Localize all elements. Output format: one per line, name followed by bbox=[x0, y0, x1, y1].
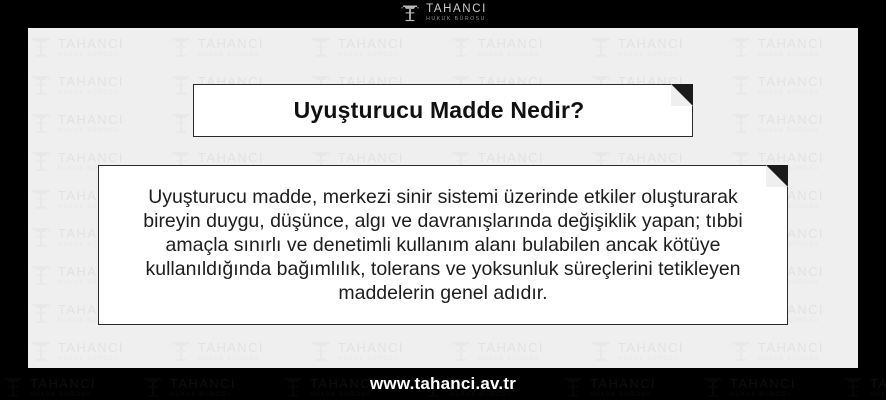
watermark-brand-name: TAHANCI bbox=[58, 37, 124, 50]
brand-subtitle: HUKUK BÜROSU bbox=[426, 17, 486, 22]
watermark-brand-subtitle: HUKUK BÜROSU bbox=[338, 356, 404, 362]
watermark-tile: TAHANCIHUKUK BÜROSU bbox=[308, 338, 448, 364]
watermark-brand-name: TAHANCI bbox=[870, 377, 886, 390]
pillar-column-icon bbox=[168, 338, 194, 364]
watermark-text: TAHANCIHUKUK BÜROSU bbox=[618, 341, 684, 362]
pillar-column-icon bbox=[168, 72, 194, 98]
watermark-text: TAHANCIHUKUK BÜROSU bbox=[870, 377, 886, 398]
watermark-text: TAHANCIHUKUK BÜROSU bbox=[58, 341, 124, 362]
watermark-text: TAHANCIHUKUK BÜROSU bbox=[730, 377, 796, 398]
watermark-brand-subtitle: HUKUK BÜROSU bbox=[870, 392, 886, 398]
watermark-brand-subtitle: HUKUK BÜROSU bbox=[478, 356, 544, 362]
pillar-column-icon bbox=[588, 338, 614, 364]
poster-canvas: TAHANCI HUKUK BÜROSU TAHANCIHUKUK BÜROSU… bbox=[0, 0, 886, 400]
watermark-brand-name: TAHANCI bbox=[758, 151, 824, 164]
watermark-brand-name: TAHANCI bbox=[758, 341, 824, 354]
pillar-column-icon bbox=[700, 374, 726, 400]
watermark-brand-name: TAHANCI bbox=[198, 37, 264, 50]
watermark-brand-name: TAHANCI bbox=[758, 37, 824, 50]
watermark-text: TAHANCIHUKUK BÜROSU bbox=[198, 37, 264, 58]
watermark-brand-subtitle: HUKUK BÜROSU bbox=[758, 356, 824, 362]
watermark-tile: TAHANCIHUKUK BÜROSU bbox=[140, 374, 280, 400]
pillar-column-icon bbox=[280, 374, 306, 400]
watermark-text: TAHANCIHUKUK BÜROSU bbox=[478, 341, 544, 362]
watermark-tile: TAHANCIHUKUK BÜROSU bbox=[700, 374, 840, 400]
pillar-column-icon bbox=[728, 110, 754, 136]
pillar-column-icon bbox=[728, 72, 754, 98]
watermark-brand-name: TAHANCI bbox=[338, 151, 404, 164]
watermark-brand-subtitle: HUKUK BÜROSU bbox=[758, 90, 824, 96]
watermark-brand-name: TAHANCI bbox=[338, 341, 404, 354]
watermark-brand-subtitle: HUKUK BÜROSU bbox=[30, 392, 96, 398]
content-panel: TAHANCIHUKUK BÜROSU TAHANCIHUKUK BÜROSU … bbox=[28, 28, 858, 368]
watermark-brand-subtitle: HUKUK BÜROSU bbox=[478, 52, 544, 58]
pillar-column-icon bbox=[28, 224, 54, 250]
pillar-column-icon bbox=[28, 338, 54, 364]
watermark-brand-name: TAHANCI bbox=[198, 151, 264, 164]
watermark-tile: TAHANCIHUKUK BÜROSU bbox=[588, 34, 728, 60]
watermark-text: TAHANCIHUKUK BÜROSU bbox=[310, 377, 376, 398]
watermark-text: TAHANCIHUKUK BÜROSU bbox=[758, 75, 824, 96]
watermark-text: TAHANCIHUKUK BÜROSU bbox=[170, 377, 236, 398]
pillar-column-icon bbox=[448, 34, 474, 60]
watermark-tile: TAHANCIHUKUK BÜROSU bbox=[0, 374, 140, 400]
pillar-column-icon bbox=[28, 72, 54, 98]
pillar-column-icon bbox=[140, 374, 166, 400]
watermark-tile: TAHANCIHUKUK BÜROSU bbox=[728, 110, 858, 136]
watermark-brand-name: TAHANCI bbox=[58, 113, 124, 126]
pillar-column-icon bbox=[28, 110, 54, 136]
pillar-column-icon bbox=[399, 2, 421, 24]
watermark-tile: TAHANCIHUKUK BÜROSU bbox=[728, 338, 858, 364]
pillar-column-icon bbox=[28, 34, 54, 60]
pillar-column-icon bbox=[728, 34, 754, 60]
folded-corner-icon bbox=[671, 84, 693, 106]
watermark-brand-name: TAHANCI bbox=[590, 377, 656, 390]
body-paragraph: Uyuşturucu madde, merkezi sinir sistemi … bbox=[119, 185, 767, 306]
pillar-column-icon bbox=[308, 34, 334, 60]
watermark-tile: TAHANCIHUKUK BÜROSU bbox=[308, 34, 448, 60]
watermark-text: TAHANCIHUKUK BÜROSU bbox=[58, 113, 124, 134]
watermark-text: TAHANCIHUKUK BÜROSU bbox=[758, 37, 824, 58]
watermark-text: TAHANCIHUKUK BÜROSU bbox=[758, 341, 824, 362]
watermark-tile: TAHANCIHUKUK BÜROSU bbox=[588, 338, 728, 364]
watermark-tile: TAHANCIHUKUK BÜROSU bbox=[728, 72, 858, 98]
watermark-brand-name: TAHANCI bbox=[310, 377, 376, 390]
watermark-brand-subtitle: HUKUK BÜROSU bbox=[758, 128, 824, 134]
watermark-tile: TAHANCIHUKUK BÜROSU bbox=[28, 338, 168, 364]
footer-bar: TAHANCIHUKUK BÜROSU TAHANCIHUKUK BÜROSU … bbox=[0, 368, 886, 400]
watermark-tile: TAHANCIHUKUK BÜROSU bbox=[728, 34, 858, 60]
pillar-column-icon bbox=[588, 34, 614, 60]
watermark-row: TAHANCIHUKUK BÜROSU TAHANCIHUKUK BÜROSU … bbox=[28, 28, 858, 66]
website-url[interactable]: www.tahanci.av.tr bbox=[370, 374, 516, 394]
watermark-text: TAHANCIHUKUK BÜROSU bbox=[478, 37, 544, 58]
watermark-brand-subtitle: HUKUK BÜROSU bbox=[618, 52, 684, 58]
watermark-brand-name: TAHANCI bbox=[58, 75, 124, 88]
watermark-tile: TAHANCIHUKUK BÜROSU bbox=[168, 338, 308, 364]
watermark-row: TAHANCIHUKUK BÜROSU TAHANCIHUKUK BÜROSU … bbox=[28, 332, 858, 368]
watermark-tile: TAHANCIHUKUK BÜROSU bbox=[448, 338, 588, 364]
body-card: Uyuşturucu madde, merkezi sinir sistemi … bbox=[98, 165, 788, 325]
pillar-column-icon bbox=[168, 110, 194, 136]
watermark-brand-name: TAHANCI bbox=[618, 341, 684, 354]
watermark-brand-subtitle: HUKUK BÜROSU bbox=[58, 52, 124, 58]
watermark-brand-subtitle: HUKUK BÜROSU bbox=[58, 128, 124, 134]
watermark-text: TAHANCIHUKUK BÜROSU bbox=[338, 37, 404, 58]
pillar-column-icon bbox=[448, 338, 474, 364]
pillar-column-icon bbox=[168, 34, 194, 60]
watermark-brand-subtitle: HUKUK BÜROSU bbox=[338, 52, 404, 58]
watermark-brand-subtitle: HUKUK BÜROSU bbox=[310, 392, 376, 398]
watermark-tile: TAHANCIHUKUK BÜROSU bbox=[448, 34, 588, 60]
watermark-tile: TAHANCIHUKUK BÜROSU bbox=[28, 34, 168, 60]
pillar-column-icon bbox=[840, 374, 866, 400]
watermark-brand-subtitle: HUKUK BÜROSU bbox=[58, 356, 124, 362]
pillar-column-icon bbox=[28, 186, 54, 212]
watermark-brand-subtitle: HUKUK BÜROSU bbox=[590, 392, 656, 398]
watermark-text: TAHANCIHUKUK BÜROSU bbox=[58, 75, 124, 96]
watermark-brand-name: TAHANCI bbox=[58, 151, 124, 164]
watermark-brand-name: TAHANCI bbox=[618, 37, 684, 50]
watermark-text: TAHANCIHUKUK BÜROSU bbox=[618, 37, 684, 58]
watermark-text: TAHANCIHUKUK BÜROSU bbox=[58, 37, 124, 58]
brand-name: TAHANCI bbox=[426, 4, 487, 16]
watermark-brand-subtitle: HUKUK BÜROSU bbox=[758, 52, 824, 58]
watermark-brand-name: TAHANCI bbox=[478, 341, 544, 354]
watermark-tile: TAHANCIHUKUK BÜROSU bbox=[168, 34, 308, 60]
pillar-column-icon bbox=[560, 374, 586, 400]
watermark-text: TAHANCIHUKUK BÜROSU bbox=[30, 377, 96, 398]
watermark-text: TAHANCIHUKUK BÜROSU bbox=[198, 341, 264, 362]
pillar-column-icon bbox=[28, 262, 54, 288]
watermark-brand-subtitle: HUKUK BÜROSU bbox=[170, 392, 236, 398]
watermark-brand-name: TAHANCI bbox=[338, 37, 404, 50]
watermark-brand-name: TAHANCI bbox=[58, 341, 124, 354]
header-bar: TAHANCI HUKUK BÜROSU bbox=[0, 0, 886, 28]
watermark-brand-subtitle: HUKUK BÜROSU bbox=[58, 90, 124, 96]
watermark-brand-name: TAHANCI bbox=[478, 151, 544, 164]
watermark-tile: TAHANCIHUKUK BÜROSU bbox=[560, 374, 700, 400]
watermark-tile: TAHANCIHUKUK BÜROSU bbox=[28, 110, 168, 136]
pillar-column-icon bbox=[28, 148, 54, 174]
watermark-brand-subtitle: HUKUK BÜROSU bbox=[730, 392, 796, 398]
watermark-brand-name: TAHANCI bbox=[730, 377, 796, 390]
watermark-text: TAHANCIHUKUK BÜROSU bbox=[338, 341, 404, 362]
brand-logo: TAHANCI HUKUK BÜROSU bbox=[399, 2, 487, 24]
watermark-brand-name: TAHANCI bbox=[170, 377, 236, 390]
watermark-tile: TAHANCIHUKUK BÜROSU bbox=[28, 72, 168, 98]
folded-corner-icon bbox=[766, 165, 788, 187]
watermark-brand-name: TAHANCI bbox=[758, 75, 824, 88]
page-title: Uyuşturucu Madde Nedir? bbox=[294, 97, 585, 124]
watermark-brand-name: TAHANCI bbox=[758, 113, 824, 126]
pillar-column-icon bbox=[728, 338, 754, 364]
pillar-column-icon bbox=[0, 374, 26, 400]
watermark-brand-subtitle: HUKUK BÜROSU bbox=[198, 356, 264, 362]
brand-text: TAHANCI HUKUK BÜROSU bbox=[426, 4, 487, 23]
watermark-text: TAHANCIHUKUK BÜROSU bbox=[758, 113, 824, 134]
watermark-text: TAHANCIHUKUK BÜROSU bbox=[590, 377, 656, 398]
watermark-tile: TAHANCIHUKUK BÜROSU bbox=[840, 374, 886, 400]
watermark-brand-name: TAHANCI bbox=[198, 341, 264, 354]
watermark-brand-name: TAHANCI bbox=[478, 37, 544, 50]
watermark-brand-name: TAHANCI bbox=[618, 151, 684, 164]
watermark-brand-subtitle: HUKUK BÜROSU bbox=[198, 52, 264, 58]
title-card: Uyuşturucu Madde Nedir? bbox=[193, 84, 693, 137]
pillar-column-icon bbox=[28, 300, 54, 326]
watermark-brand-subtitle: HUKUK BÜROSU bbox=[618, 356, 684, 362]
pillar-column-icon bbox=[308, 338, 334, 364]
watermark-brand-name: TAHANCI bbox=[30, 377, 96, 390]
